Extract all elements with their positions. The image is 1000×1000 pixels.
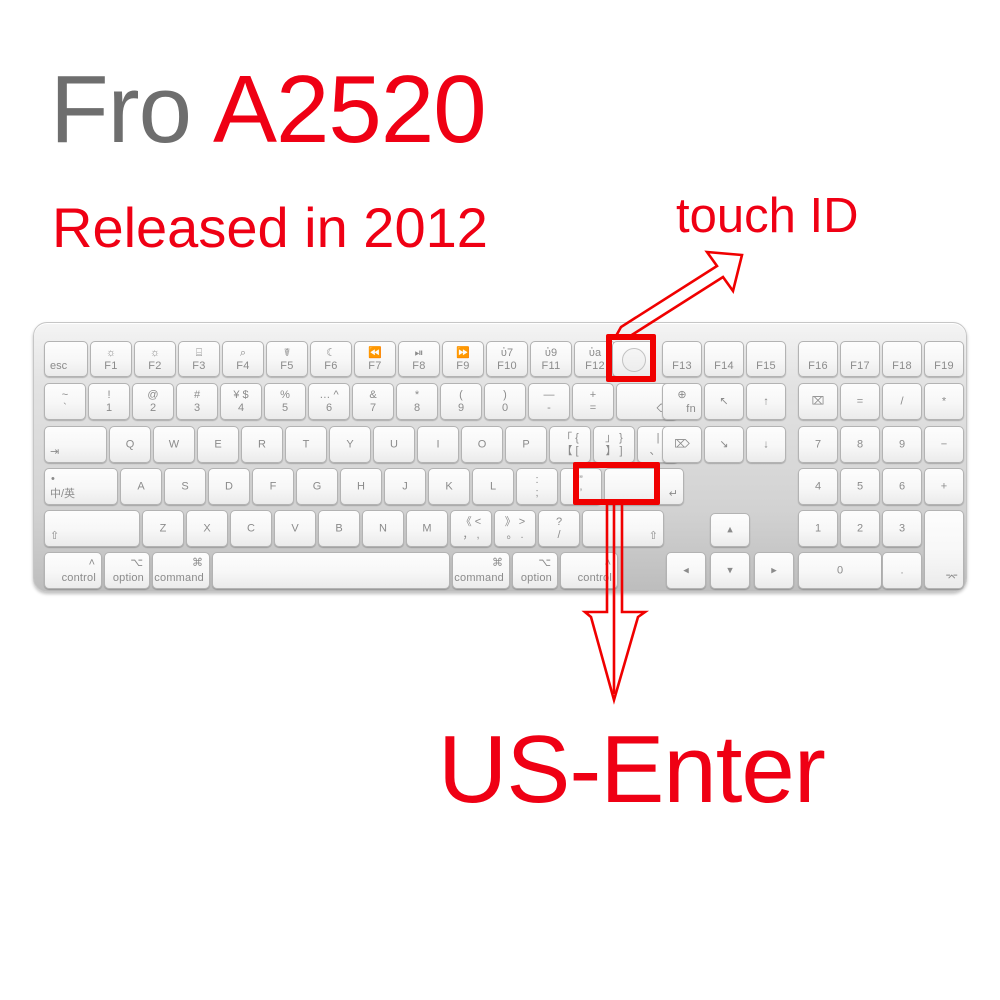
key-arrow-down[interactable]: ▾ xyxy=(710,552,750,589)
key-label: % xyxy=(265,390,305,401)
key-label: control xyxy=(578,573,612,584)
key-label: ↓ xyxy=(747,439,785,450)
key-label: F19 xyxy=(925,361,963,372)
key-letter-v[interactable]: V xyxy=(274,510,316,547)
key-letter-l[interactable]: L xyxy=(472,468,514,505)
key-bracket-right[interactable]: 」 }】 ] xyxy=(593,426,635,463)
key-letter-h[interactable]: H xyxy=(340,468,382,505)
key-label: 7 xyxy=(799,439,837,450)
key-label: command xyxy=(454,573,504,584)
key-num-1[interactable]: 1 xyxy=(798,510,838,547)
key-f1-brightness-down[interactable]: ☼F1 xyxy=(90,341,132,377)
key-letter-x[interactable]: X xyxy=(186,510,228,547)
key-two[interactable]: @2 xyxy=(132,383,174,420)
key-label: C xyxy=(231,523,271,534)
key-num-multiply[interactable]: * xyxy=(924,383,964,420)
subtitle-release-year: Released in 2012 xyxy=(52,200,488,256)
key-command-left[interactable]: ⌘command xyxy=(152,552,210,589)
key-label: M xyxy=(407,523,447,534)
key-num-4[interactable]: 4 xyxy=(798,468,838,505)
key-label: D xyxy=(209,481,249,492)
key-label: − xyxy=(925,439,963,450)
key-label: 1 xyxy=(89,403,129,414)
key-quote[interactable]: ”’ xyxy=(560,468,602,505)
key-letter-t[interactable]: T xyxy=(285,426,327,463)
key-letter-p[interactable]: P xyxy=(505,426,547,463)
key-fn-globe[interactable]: ⊕fn xyxy=(662,383,702,420)
key-space[interactable] xyxy=(212,552,450,589)
key-label: ⇧ xyxy=(50,531,59,542)
key-label: U xyxy=(374,439,414,450)
key-letter-b[interactable]: B xyxy=(318,510,360,547)
key-f12-volume-up[interactable]: ὐaF12 xyxy=(574,341,616,377)
key-label: ⌦ xyxy=(663,439,701,450)
key-f6-do-not-disturb[interactable]: ☾F6 xyxy=(310,341,352,377)
key-label: — xyxy=(529,390,569,401)
key-label: ⊕ xyxy=(663,390,701,401)
key-label: Q xyxy=(110,439,150,450)
key-label: J xyxy=(385,481,425,492)
key-num-0[interactable]: 0 xyxy=(798,552,882,589)
key-label: = xyxy=(841,396,879,407)
key-label: ⇧ xyxy=(649,531,658,542)
key-grave[interactable]: ~` xyxy=(44,383,86,420)
key-label: ☤ xyxy=(267,348,307,359)
key-equal[interactable]: += xyxy=(572,383,614,420)
key-f15[interactable]: F15 xyxy=(746,341,786,377)
keybed: esc☼F1☼F2⌸F3⌕F4☤F5☾F6⏪F7⏯F8⏩F9ὐ7F10ὐ9F11… xyxy=(40,330,960,583)
key-label: F17 xyxy=(841,361,879,372)
key-label: ⌥ xyxy=(538,558,551,569)
key-letter-c[interactable]: C xyxy=(230,510,272,547)
key-num-clear[interactable]: ⌧ xyxy=(798,383,838,420)
key-label: S xyxy=(165,481,205,492)
key-letter-k[interactable]: K xyxy=(428,468,470,505)
key-label: F1 xyxy=(91,361,131,372)
key-label: option xyxy=(113,573,144,584)
key-three[interactable]: #3 xyxy=(176,383,218,420)
key-eight[interactable]: *8 xyxy=(396,383,438,420)
key-label: F11 xyxy=(531,361,571,372)
key-label: F18 xyxy=(883,361,921,372)
key-arrow-up[interactable]: ▴ xyxy=(710,513,750,547)
key-label: 】 ] xyxy=(594,446,634,457)
key-label: A xyxy=(121,481,161,492)
key-letter-f[interactable]: F xyxy=(252,468,294,505)
key-period[interactable]: 》 >。 . xyxy=(494,510,536,547)
key-label: 》 > xyxy=(495,517,535,528)
key-label: F2 xyxy=(135,361,175,372)
key-label: T xyxy=(286,439,326,450)
key-label: ， , xyxy=(451,530,491,541)
key-label: ☼ xyxy=(91,348,131,359)
key-label: 2 xyxy=(841,523,879,534)
key-shift-left[interactable]: ⇧ xyxy=(44,510,140,547)
key-label: W xyxy=(154,439,194,450)
key-f3-mission-control[interactable]: ⌸F3 xyxy=(178,341,220,377)
key-label: ⌘ xyxy=(192,558,203,569)
key-label: F15 xyxy=(747,361,785,372)
key-num-3[interactable]: 3 xyxy=(882,510,922,547)
key-num-decimal[interactable]: . xyxy=(882,552,922,589)
key-label: option xyxy=(521,573,552,584)
key-num-divide[interactable]: / xyxy=(882,383,922,420)
key-letter-j[interactable]: J xyxy=(384,468,426,505)
key-label: ’ xyxy=(561,488,601,499)
key-tab[interactable]: ⇥ xyxy=(44,426,107,463)
key-label: 5 xyxy=(841,481,879,492)
key-f13[interactable]: F13 xyxy=(662,341,702,377)
key-label: / xyxy=(883,396,921,407)
key-label: ⇥ xyxy=(50,447,59,458)
key-label: = xyxy=(573,403,613,414)
key-label: F9 xyxy=(443,361,483,372)
key-label: ↘ xyxy=(705,439,743,450)
screenshot-canvas: Fro A2520 Released in 2012 touch ID US-E… xyxy=(0,0,1000,1000)
key-letter-e[interactable]: E xyxy=(197,426,239,463)
key-num-minus[interactable]: − xyxy=(924,426,964,463)
key-letter-m[interactable]: M xyxy=(406,510,448,547)
key-one[interactable]: !1 xyxy=(88,383,130,420)
key-end[interactable]: ↘ xyxy=(704,426,744,463)
key-label: 0 xyxy=(485,403,525,414)
key-option-left[interactable]: ⌥option xyxy=(104,552,150,589)
key-num-6[interactable]: 6 xyxy=(882,468,922,505)
key-label: 4 xyxy=(221,403,261,414)
key-label: 8 xyxy=(397,403,437,414)
key-label: 7 xyxy=(353,403,393,414)
key-label: 1 xyxy=(799,523,837,534)
key-letter-n[interactable]: N xyxy=(362,510,404,547)
key-slash[interactable]: ?/ xyxy=(538,510,580,547)
key-label: F16 xyxy=(799,361,837,372)
key-label: ! xyxy=(89,390,129,401)
key-label: ↖ xyxy=(705,396,743,407)
key-label: ▸ xyxy=(755,565,793,576)
key-f7-rewind[interactable]: ⏪F7 xyxy=(354,341,396,377)
key-caps-lock[interactable]: •中/英 xyxy=(44,468,118,505)
key-letter-u[interactable]: U xyxy=(373,426,415,463)
key-label: 8 xyxy=(841,439,879,450)
key-label: … ^ xyxy=(309,390,349,401)
key-label: ⌥ xyxy=(130,558,143,569)
key-label: ☾ xyxy=(311,348,351,359)
key-label: N xyxy=(363,523,403,534)
key-label: ↵ xyxy=(669,489,678,500)
key-option-right[interactable]: ⌥option xyxy=(512,552,558,589)
key-label: esc xyxy=(50,361,67,372)
key-label: control xyxy=(62,573,96,584)
key-label: 【 [ xyxy=(550,446,590,457)
key-f18[interactable]: F18 xyxy=(882,341,922,377)
key-label: ⌸ xyxy=(179,348,219,359)
key-letter-y[interactable]: Y xyxy=(329,426,371,463)
key-label: ~ xyxy=(45,390,85,401)
key-num-9[interactable]: 9 xyxy=(882,426,922,463)
key-label: 3 xyxy=(177,403,217,414)
key-label: 4 xyxy=(799,481,837,492)
key-label: ⌘ xyxy=(492,558,503,569)
key-label: O xyxy=(462,439,502,450)
key-num-5[interactable]: 5 xyxy=(840,468,880,505)
key-letter-d[interactable]: D xyxy=(208,468,250,505)
key-letter-r[interactable]: R xyxy=(241,426,283,463)
key-label: command xyxy=(154,573,204,584)
key-f5-dictation[interactable]: ☤F5 xyxy=(266,341,308,377)
key-letter-o[interactable]: O xyxy=(461,426,503,463)
key-four[interactable]: ¥ $4 xyxy=(220,383,262,420)
key-control-right[interactable]: ˄control xyxy=(560,552,618,589)
key-label: F12 xyxy=(575,361,615,372)
key-return[interactable]: ↵ xyxy=(604,468,684,505)
key-label: F14 xyxy=(705,361,743,372)
key-f14[interactable]: F14 xyxy=(704,341,744,377)
key-label: ⌧ xyxy=(799,396,837,407)
key-label: E xyxy=(198,439,238,450)
key-label: 0 xyxy=(799,565,881,576)
key-label: ⏪ xyxy=(355,348,395,359)
key-label: ` xyxy=(45,403,85,414)
key-label: : xyxy=(517,475,557,486)
key-label: * xyxy=(925,396,963,407)
key-label: ↑ xyxy=(747,396,785,407)
key-label: P xyxy=(506,439,546,450)
key-label: @ xyxy=(133,390,173,401)
key-forward-delete[interactable]: ⌦ xyxy=(662,426,702,463)
key-arrow-right[interactable]: ▸ xyxy=(754,552,794,589)
key-seven[interactable]: &7 xyxy=(352,383,394,420)
key-label: 6 xyxy=(309,403,349,414)
key-label: 中/英 xyxy=(50,489,75,500)
key-bracket-left[interactable]: 「 {【 [ xyxy=(549,426,591,463)
key-label: ὐ7 xyxy=(487,348,527,359)
key-letter-a[interactable]: A xyxy=(120,468,162,505)
key-minus[interactable]: —- xyxy=(528,383,570,420)
key-label: 6 xyxy=(883,481,921,492)
key-label: K xyxy=(429,481,469,492)
key-label: - xyxy=(529,403,569,414)
key-letter-g[interactable]: G xyxy=(296,468,338,505)
key-f16[interactable]: F16 xyxy=(798,341,838,377)
key-five[interactable]: %5 xyxy=(264,383,306,420)
key-command-right[interactable]: ⌘command xyxy=(452,552,510,589)
key-label: ὐa xyxy=(575,348,615,359)
key-label: F6 xyxy=(311,361,351,372)
key-num-8[interactable]: 8 xyxy=(840,426,880,463)
key-label: 2 xyxy=(133,403,173,414)
key-label: F xyxy=(253,481,293,492)
key-label: fn xyxy=(686,404,696,415)
key-touch-id[interactable] xyxy=(612,341,654,377)
key-num-enter[interactable]: ⌤ xyxy=(924,510,964,589)
key-label: ? xyxy=(539,517,579,528)
key-label: ˄ xyxy=(89,558,95,569)
key-control-left[interactable]: ˄control xyxy=(44,552,102,589)
key-label: F8 xyxy=(399,361,439,372)
key-label: ☼ xyxy=(135,348,175,359)
key-num-plus[interactable]: + xyxy=(924,468,964,505)
key-six[interactable]: … ^6 xyxy=(308,383,350,420)
key-letter-q[interactable]: Q xyxy=(109,426,151,463)
key-label: L xyxy=(473,481,513,492)
key-home[interactable]: ↖ xyxy=(704,383,744,420)
key-label: 《 < xyxy=(451,517,491,528)
annotation-label-touch-id: touch ID xyxy=(676,192,858,241)
key-f19[interactable]: F19 xyxy=(924,341,964,377)
headline-model-number: A2520 xyxy=(213,62,486,158)
key-label: 9 xyxy=(441,403,481,414)
key-label: ὐ9 xyxy=(531,348,571,359)
key-label: ” xyxy=(561,475,601,486)
key-f10-mute[interactable]: ὐ7F10 xyxy=(486,341,528,377)
key-label: * xyxy=(397,390,437,401)
key-label: 。 . xyxy=(495,530,535,541)
key-f4-spotlight[interactable]: ⌕F4 xyxy=(222,341,264,377)
key-label: ⏯ xyxy=(399,348,439,359)
key-label: + xyxy=(925,481,963,492)
annotation-label-us-enter: US-Enter xyxy=(438,722,825,818)
key-f9-fast-forward[interactable]: ⏩F9 xyxy=(442,341,484,377)
key-comma[interactable]: 《 <， , xyxy=(450,510,492,547)
key-label: ; xyxy=(517,488,557,499)
key-shift-right[interactable]: ⇧ xyxy=(582,510,664,547)
key-label: # xyxy=(177,390,217,401)
key-label: ¥ $ xyxy=(221,390,261,401)
key-label: Z xyxy=(143,523,183,534)
key-label: . xyxy=(883,565,921,576)
key-label: ▾ xyxy=(711,565,749,576)
key-label: B xyxy=(319,523,359,534)
key-label: F7 xyxy=(355,361,395,372)
key-num-7[interactable]: 7 xyxy=(798,426,838,463)
key-label: R xyxy=(242,439,282,450)
key-label: • xyxy=(51,474,55,485)
key-letter-s[interactable]: S xyxy=(164,468,206,505)
key-label: ⏩ xyxy=(443,348,483,359)
key-zero[interactable]: )0 xyxy=(484,383,526,420)
key-label: X xyxy=(187,523,227,534)
key-label: 「 { xyxy=(550,433,590,444)
magic-keyboard: esc☼F1☼F2⌸F3⌕F4☤F5☾F6⏪F7⏯F8⏩F9ὐ7F10ὐ9F11… xyxy=(33,322,967,592)
key-label: ) xyxy=(485,390,525,401)
key-label: I xyxy=(418,439,458,450)
key-label: ◂ xyxy=(667,565,705,576)
key-page-up[interactable]: ↑ xyxy=(746,383,786,420)
key-label: 5 xyxy=(265,403,305,414)
key-num-equal[interactable]: = xyxy=(840,383,880,420)
key-label: ( xyxy=(441,390,481,401)
key-letter-z[interactable]: Z xyxy=(142,510,184,547)
key-label: ˄ xyxy=(605,558,611,569)
key-page-down[interactable]: ↓ xyxy=(746,426,786,463)
key-label: F5 xyxy=(267,361,307,372)
key-label: F13 xyxy=(663,361,701,372)
key-f17[interactable]: F17 xyxy=(840,341,880,377)
key-label: Y xyxy=(330,439,370,450)
key-label: G xyxy=(297,481,337,492)
key-label: ▴ xyxy=(711,525,749,536)
headline: Fro A2520 xyxy=(50,62,486,158)
key-letter-i[interactable]: I xyxy=(417,426,459,463)
key-letter-w[interactable]: W xyxy=(153,426,195,463)
key-label: F3 xyxy=(179,361,219,372)
key-label: F4 xyxy=(223,361,263,372)
key-label: & xyxy=(353,390,393,401)
key-label: V xyxy=(275,523,315,534)
key-esc[interactable]: esc xyxy=(44,341,88,377)
key-label: 3 xyxy=(883,523,921,534)
key-label: / xyxy=(539,530,579,541)
headline-model-prefix: Fro xyxy=(50,62,191,158)
key-label: ⌤ xyxy=(945,573,958,584)
key-f2-brightness-up[interactable]: ☼F2 xyxy=(134,341,176,377)
key-num-2[interactable]: 2 xyxy=(840,510,880,547)
key-label: F10 xyxy=(487,361,527,372)
key-label: 9 xyxy=(883,439,921,450)
key-nine[interactable]: (9 xyxy=(440,383,482,420)
key-f8-play-pause[interactable]: ⏯F8 xyxy=(398,341,440,377)
key-label: 」 } xyxy=(594,433,634,444)
key-f11-volume-down[interactable]: ὐ9F11 xyxy=(530,341,572,377)
key-label: ⌕ xyxy=(223,348,263,359)
key-label: H xyxy=(341,481,381,492)
key-label: + xyxy=(573,390,613,401)
key-arrow-left[interactable]: ◂ xyxy=(666,552,706,589)
key-semicolon[interactable]: :; xyxy=(516,468,558,505)
